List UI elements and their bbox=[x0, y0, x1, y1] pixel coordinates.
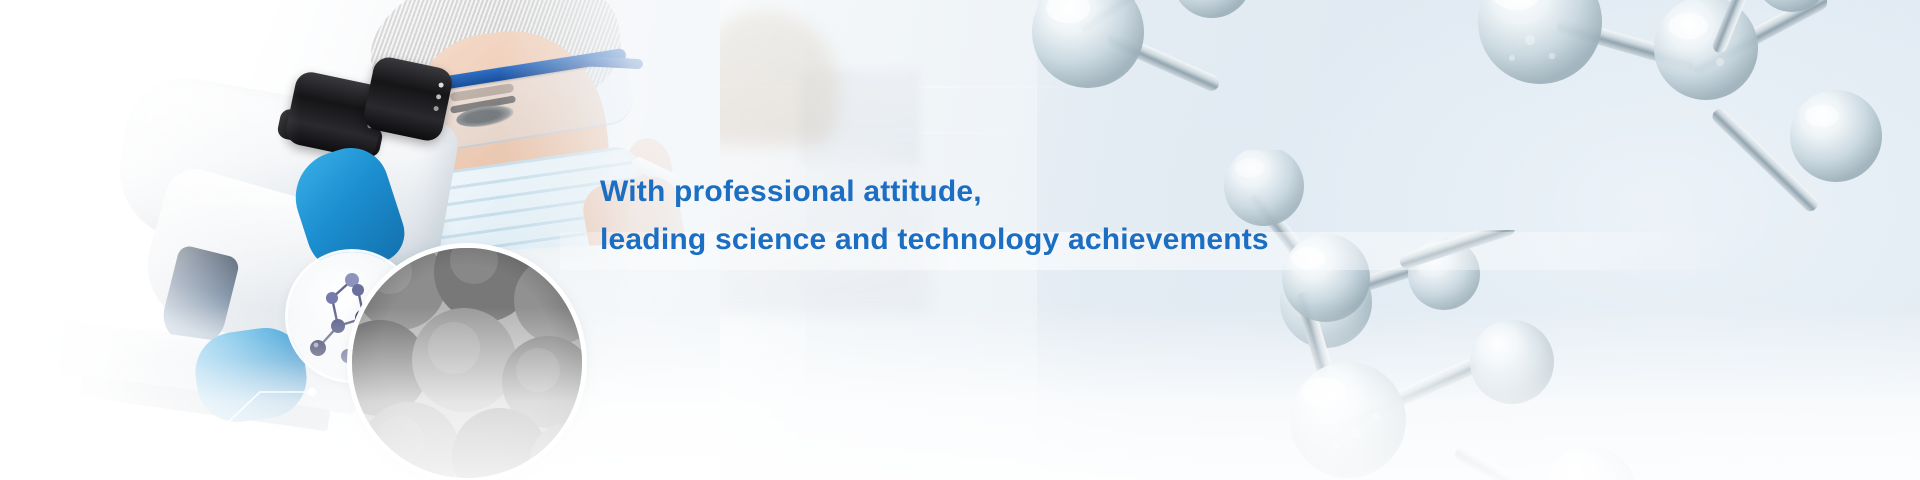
headline-line-1: With professional attitude, bbox=[600, 168, 1600, 216]
bottom-light-wash bbox=[0, 307, 1920, 480]
headline-line-2: leading science and technology achieveme… bbox=[600, 216, 1600, 264]
banner-headline: With professional attitude, leading scie… bbox=[600, 168, 1600, 264]
science-banner: With professional attitude, leading scie… bbox=[0, 0, 1920, 480]
